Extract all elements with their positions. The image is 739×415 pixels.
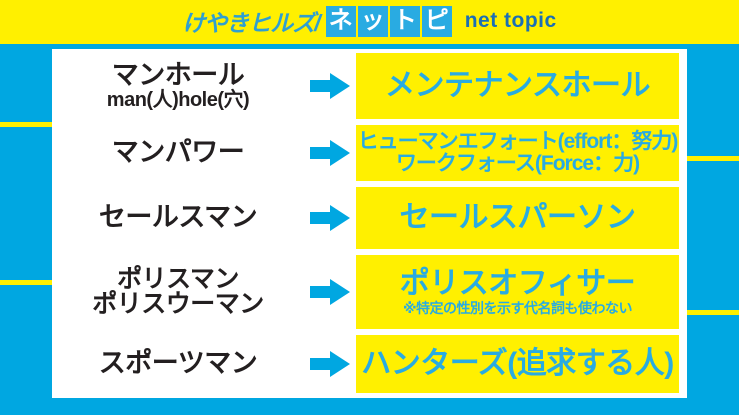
subtitle-english: net topic — [465, 9, 557, 33]
arrow-shaft — [310, 212, 332, 224]
replacement-label-line2: ワークフォース(Force：力) — [396, 153, 639, 175]
right-arrow-icon — [310, 205, 350, 231]
table-row: スポーツマン ハンターズ(追求する人) — [52, 335, 687, 393]
term-original: マンホール man(人)hole(穴) — [52, 62, 304, 111]
table-row: セールスマン セールスパーソン — [52, 187, 687, 249]
logo-char-3: ト — [390, 6, 420, 37]
table-row: ポリスマン ポリスウーマン ポリスオフィサー ※特定の性別を示す代名詞も使わない — [52, 255, 687, 329]
arrow-head — [330, 205, 350, 231]
header-bar: けやきヒルズ/ ネ ッ ト ピ net topic — [0, 0, 739, 44]
replacement-label: ポリスオフィサー — [400, 268, 635, 300]
arrow-head — [330, 351, 350, 377]
replacement-label: ハンターズ(追求する人) — [361, 348, 673, 380]
term-label: スポーツマン — [99, 350, 257, 378]
term-replacement: メンテナンスホール — [356, 53, 679, 119]
right-arrow-icon — [310, 351, 350, 377]
arrow-cell — [304, 205, 356, 231]
right-arrow-icon — [310, 140, 350, 166]
content-panel: マンホール man(人)hole(穴) メンテナンスホール マンパワー — [52, 49, 687, 398]
program-title: けやきヒルズ/ — [182, 4, 319, 38]
right-arrow-icon — [310, 279, 350, 305]
arrow-cell — [304, 351, 356, 377]
logo-char-4: ピ — [422, 6, 452, 37]
term-label: ポリスマン — [117, 267, 239, 293]
arrow-shaft — [310, 358, 332, 370]
replacement-note: ※特定の性別を示す代名詞も使わない — [403, 301, 632, 316]
arrow-shaft — [310, 147, 332, 159]
logo-char-2: ッ — [358, 6, 388, 37]
arrow-shaft — [310, 286, 332, 298]
term-original: ポリスマン ポリスウーマン — [52, 267, 304, 318]
term-sublabel: man(人)hole(穴) — [107, 90, 249, 110]
replacement-label: セールスパーソン — [400, 202, 636, 234]
arrow-cell — [304, 279, 356, 305]
term-replacement: ポリスオフィサー ※特定の性別を示す代名詞も使わない — [356, 255, 679, 329]
accent-stripe-right-1 — [687, 156, 739, 161]
term-label: マンホール — [112, 62, 245, 90]
arrow-cell — [304, 73, 356, 99]
accent-stripe-right-2 — [687, 310, 739, 315]
header-content: けやきヒルズ/ ネ ッ ト ピ net topic — [182, 4, 556, 38]
term-replacement: ハンターズ(追求する人) — [356, 335, 679, 393]
term-replacement: ヒューマンエフォート(effort：努力) ワークフォース(Force：力) — [356, 125, 679, 181]
replacement-label-line1: ヒューマンエフォート(effort：努力) — [358, 131, 678, 153]
arrow-head — [330, 73, 350, 99]
arrow-shaft — [310, 80, 332, 92]
arrow-cell — [304, 140, 356, 166]
nettopi-logo: ネ ッ ト ピ — [326, 6, 452, 37]
term-label: マンパワー — [112, 139, 245, 167]
accent-stripe-left-1 — [0, 122, 52, 127]
replacement-label: メンテナンスホール — [385, 70, 650, 102]
right-arrow-icon — [310, 73, 350, 99]
accent-stripe-left-2 — [0, 280, 52, 285]
table-row: マンホール man(人)hole(穴) メンテナンスホール — [52, 53, 687, 119]
term-label-line2: ポリスウーマン — [92, 292, 264, 318]
graphic-stage: けやきヒルズ/ ネ ッ ト ピ net topic マンホール man(人)ho… — [0, 0, 739, 415]
term-replacement: セールスパーソン — [356, 187, 679, 249]
term-original: スポーツマン — [52, 350, 304, 378]
term-label: セールスマン — [99, 204, 257, 232]
arrow-head — [330, 140, 350, 166]
term-original: セールスマン — [52, 204, 304, 232]
arrow-head — [330, 279, 350, 305]
table-row: マンパワー ヒューマンエフォート(effort：努力) ワークフォース(Forc… — [52, 125, 687, 181]
logo-char-1: ネ — [326, 6, 356, 37]
term-original: マンパワー — [52, 139, 304, 167]
